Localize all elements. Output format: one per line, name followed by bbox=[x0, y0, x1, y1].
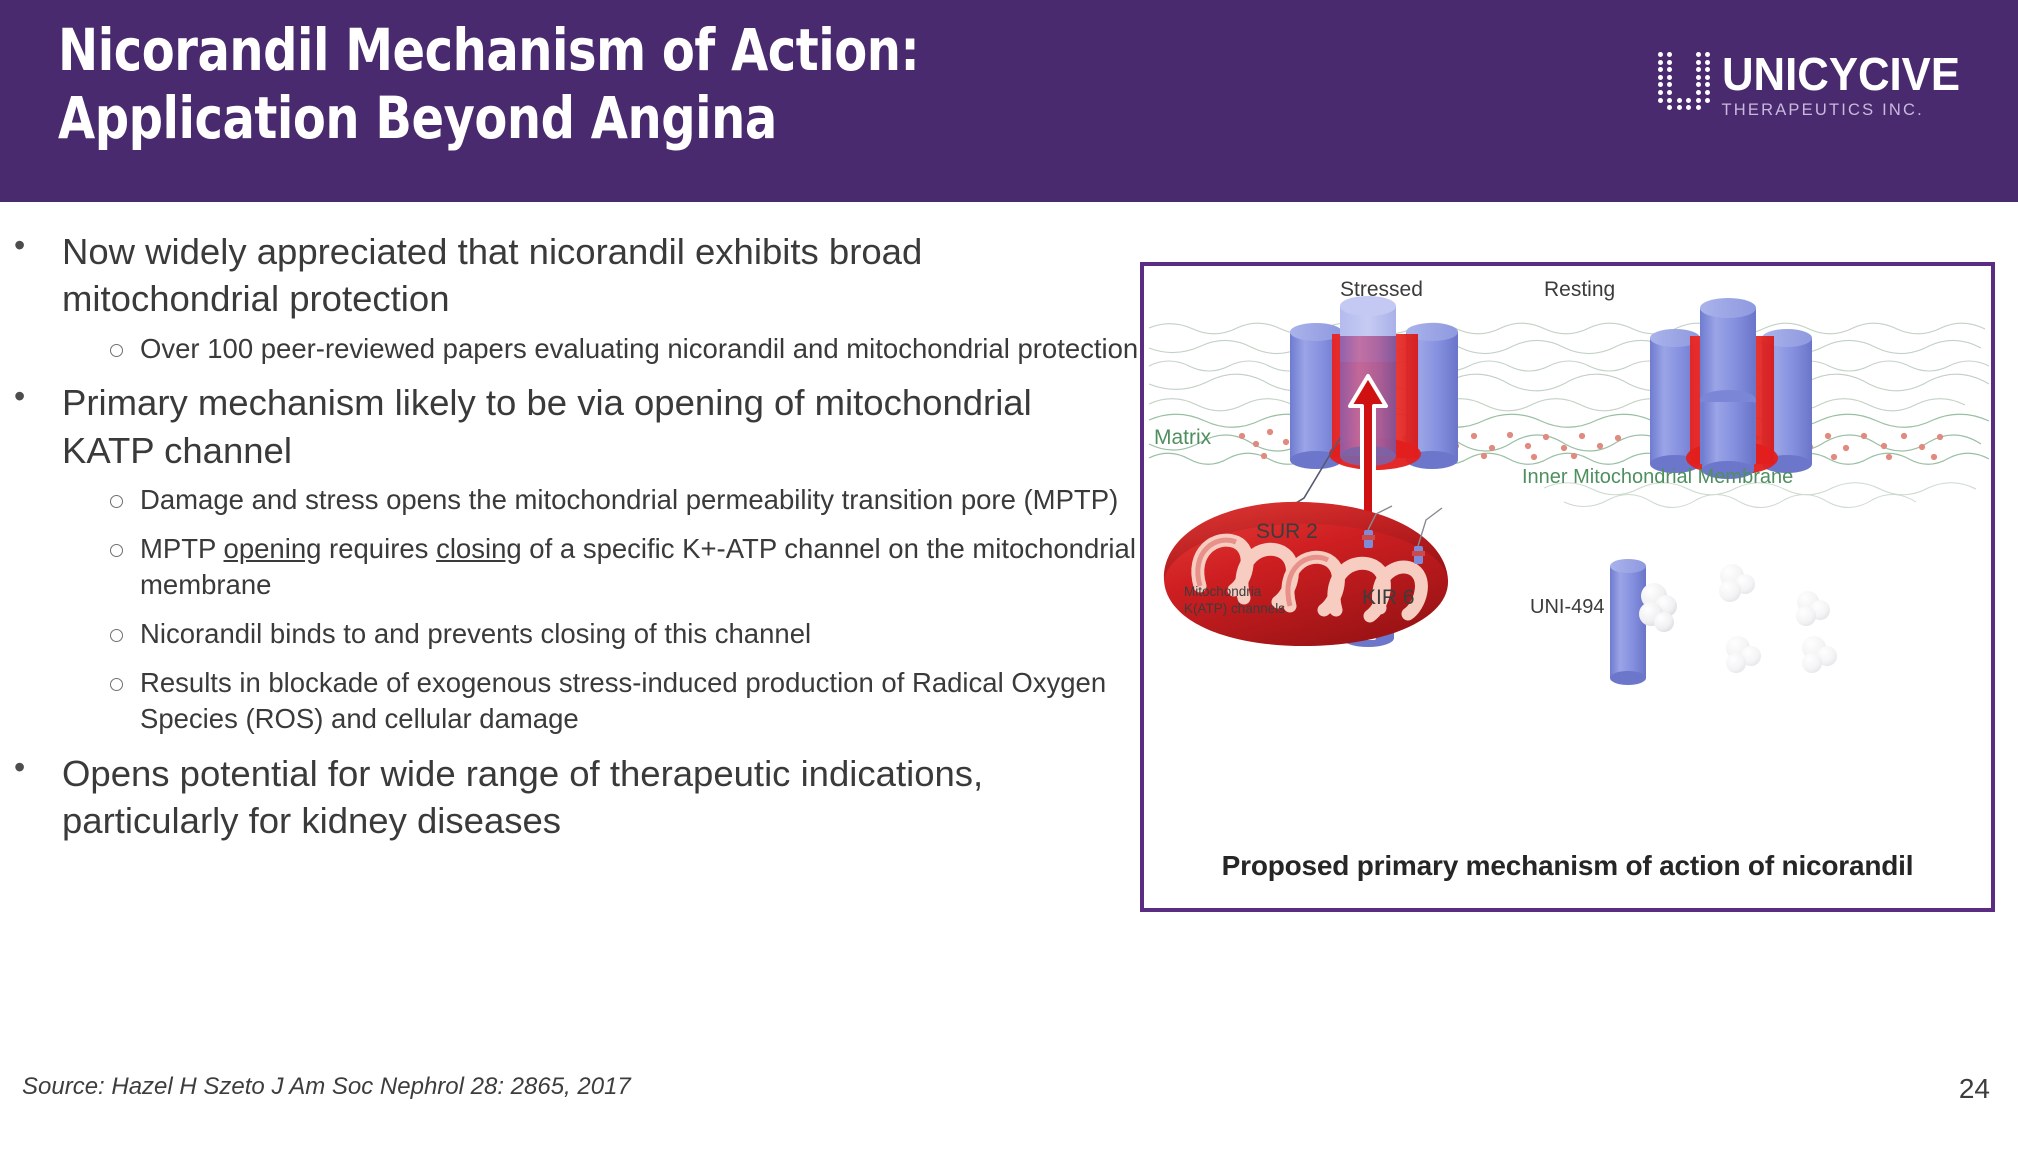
sub-bullet-text: Nicorandil binds to and prevents closing… bbox=[140, 616, 1140, 653]
sub-bullet-text-rich: MPTP opening requires closing of a speci… bbox=[140, 531, 1140, 604]
sub-bullet-item: Results in blockade of exogenous stress-… bbox=[62, 665, 1140, 738]
unicycive-u-mark-icon bbox=[1658, 52, 1716, 114]
page-number: 24 bbox=[1959, 1073, 1990, 1105]
sub-bullet-text: Over 100 peer-reviewed papers evaluating… bbox=[140, 331, 1140, 368]
page-title: Nicorandil Mechanism of Action: Applicat… bbox=[58, 16, 1328, 153]
bullet-content: Now widely appreciated that nicorandil e… bbox=[0, 202, 1140, 849]
text-pre: MPTP bbox=[140, 533, 224, 564]
bullet-list: Now widely appreciated that nicorandil e… bbox=[0, 228, 1140, 845]
sub-bullet-list: Damage and stress opens the mitochondria… bbox=[62, 482, 1140, 737]
sub-bullet-text: Damage and stress opens the mitochondria… bbox=[140, 482, 1140, 519]
uni494-molecule-icon bbox=[1719, 564, 1755, 602]
bullet-item: Opens potential for wide range of therap… bbox=[0, 750, 1140, 845]
bullet-text: Primary mechanism likely to be via openi… bbox=[62, 379, 1082, 474]
sub-bullet-text: Results in blockade of exogenous stress-… bbox=[140, 665, 1140, 738]
bullet-text: Now widely appreciated that nicorandil e… bbox=[62, 228, 1082, 323]
resting-channel-complex bbox=[1650, 298, 1812, 479]
sub-bullet-item: Over 100 peer-reviewed papers evaluating… bbox=[62, 331, 1140, 368]
label-uni494: UNI-494 bbox=[1530, 596, 1604, 619]
bullet-item: Now widely appreciated that nicorandil e… bbox=[0, 228, 1140, 367]
bullet-text: Opens potential for wide range of therap… bbox=[62, 750, 1082, 845]
figure-caption: Proposed primary mechanism of action of … bbox=[1144, 850, 1991, 882]
slide-header: Nicorandil Mechanism of Action: Applicat… bbox=[0, 0, 2018, 202]
source-citation: Source: Hazel H Szeto J Am Soc Nephrol 2… bbox=[22, 1073, 631, 1101]
uni494-molecule-icon bbox=[1802, 636, 1837, 673]
label-kir6: KIR 6 bbox=[1362, 586, 1415, 610]
label-mito-line-2: K(ATP) channels bbox=[1184, 601, 1285, 618]
logo-name: UNICYCIVE bbox=[1722, 52, 1960, 97]
slide: Nicorandil Mechanism of Action: Applicat… bbox=[0, 0, 2018, 1171]
label-mito-line-1: Mitochondria bbox=[1184, 584, 1285, 601]
label-stressed: Stressed bbox=[1340, 278, 1423, 302]
underlined-closing: closing bbox=[436, 533, 522, 564]
figure-box: Stressed Resting Matrix Inner Mitochondr… bbox=[1140, 262, 1995, 912]
label-mitochondria-katp-channels: Mitochondria K(ATP) channels bbox=[1184, 584, 1285, 618]
company-logo: UNICYCIVE THERAPEUTICS INC. bbox=[1658, 52, 1972, 120]
logo-text: UNICYCIVE THERAPEUTICS INC. bbox=[1722, 52, 1972, 120]
sub-bullet-item: Damage and stress opens the mitochondria… bbox=[62, 482, 1140, 519]
uni494-binding-illustration bbox=[1610, 559, 1837, 685]
text-mid: requires bbox=[321, 533, 436, 564]
label-inner-mitochondrial-membrane: Inner Mitochondrial Membrane bbox=[1522, 466, 1793, 489]
bullet-item: Primary mechanism likely to be via openi… bbox=[0, 379, 1140, 737]
title-line-2: Application Beyond Angina bbox=[58, 84, 1328, 152]
label-matrix: Matrix bbox=[1154, 426, 1211, 450]
title-line-1: Nicorandil Mechanism of Action: bbox=[58, 16, 1328, 84]
label-resting: Resting bbox=[1544, 278, 1615, 302]
uni494-molecule-icon bbox=[1796, 591, 1830, 626]
uni494-molecule-icon bbox=[1726, 636, 1761, 673]
sub-bullet-item: Nicorandil binds to and prevents closing… bbox=[62, 616, 1140, 653]
sub-bullet-item: MPTP opening requires closing of a speci… bbox=[62, 531, 1140, 604]
logo-tagline: THERAPEUTICS INC. bbox=[1722, 101, 1972, 120]
label-sur2: SUR 2 bbox=[1256, 520, 1318, 544]
sub-bullet-list: Over 100 peer-reviewed papers evaluating… bbox=[62, 331, 1140, 368]
underlined-opening: opening bbox=[224, 533, 322, 564]
